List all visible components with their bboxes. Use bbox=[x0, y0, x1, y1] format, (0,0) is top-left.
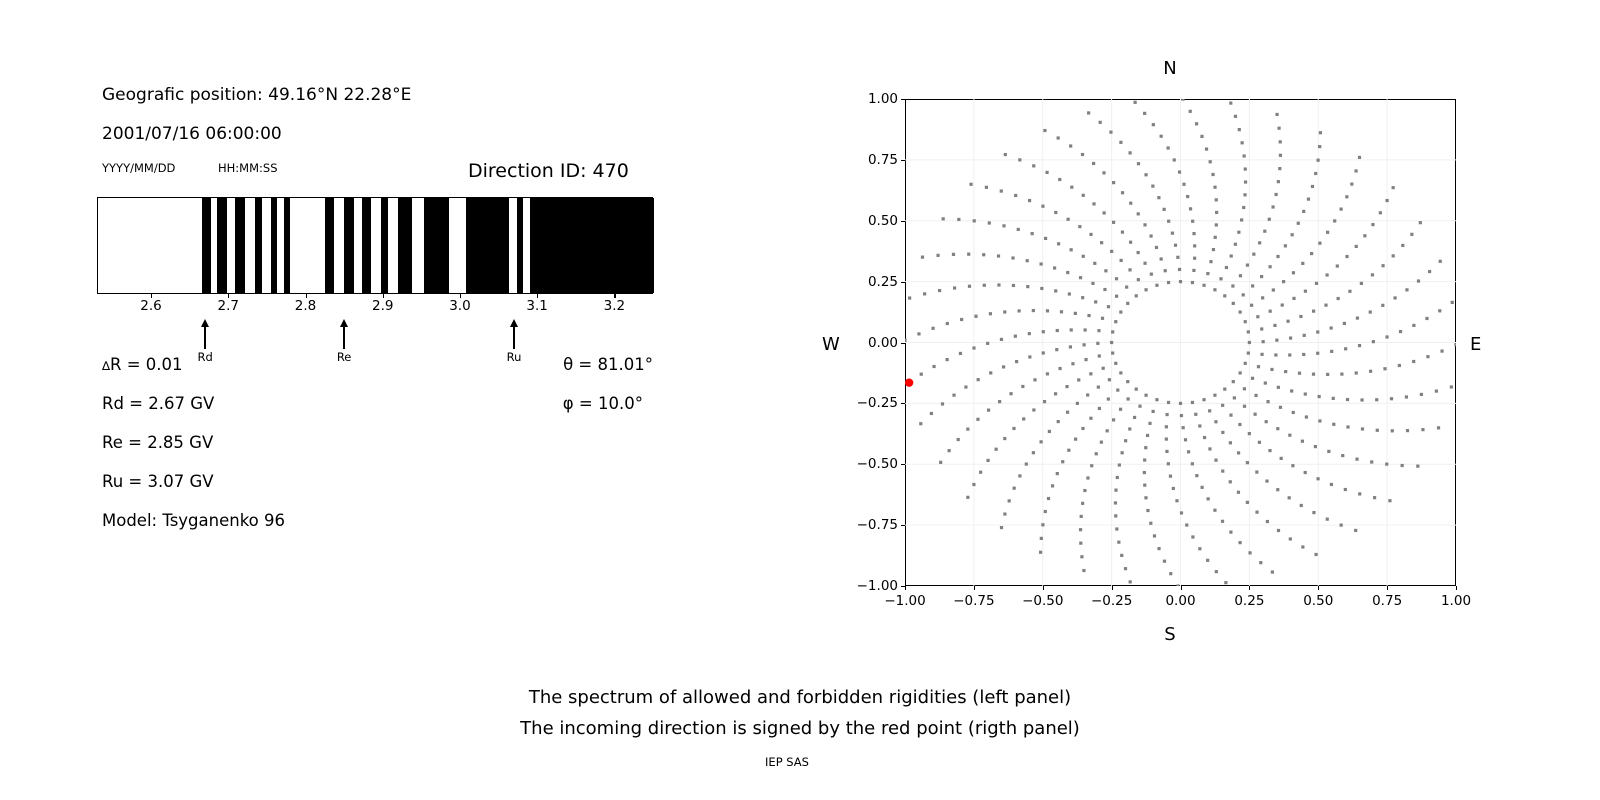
param-rd: Rd = 2.67 GV bbox=[102, 394, 214, 413]
x-axis-tick bbox=[974, 586, 975, 590]
y-axis-tick bbox=[901, 464, 905, 465]
forbidden-band bbox=[217, 198, 227, 293]
rigidity-spectrum-chart: 2.62.72.82.93.03.13.2 RdReRu bbox=[97, 197, 653, 294]
forbidden-band bbox=[398, 198, 412, 293]
y-axis-tick-label: 0.25 bbox=[868, 274, 898, 290]
forbidden-band bbox=[381, 198, 389, 293]
y-axis-tick bbox=[901, 160, 905, 161]
param-model: Model: Tsyganenko 96 bbox=[102, 511, 285, 530]
compass-label-west: W bbox=[822, 334, 840, 355]
x-axis-tick-label: 3.1 bbox=[526, 298, 547, 314]
x-axis-tick-label: 2.7 bbox=[218, 298, 239, 314]
arrow-up-icon bbox=[182, 317, 228, 349]
x-axis-tick-label: 3.0 bbox=[449, 298, 470, 314]
y-axis-tick-label: 0.50 bbox=[868, 213, 898, 229]
y-axis-tick-label: 1.00 bbox=[868, 91, 898, 107]
x-axis-tick-label: −0.50 bbox=[1022, 593, 1063, 609]
incoming-direction-point bbox=[905, 378, 913, 386]
y-axis-tick bbox=[901, 221, 905, 222]
y-axis-tick bbox=[901, 282, 905, 283]
compass-label-east: E bbox=[1470, 334, 1481, 355]
x-axis-tick bbox=[1181, 586, 1182, 590]
delta-symbol: ∆ bbox=[102, 359, 110, 373]
incoming-direction-chart: −1.00−0.75−0.50−0.250.000.250.500.751.00… bbox=[905, 99, 1456, 586]
caption-line-2: The incoming direction is signed by the … bbox=[520, 718, 1080, 739]
forbidden-band bbox=[344, 198, 353, 293]
forbidden-band bbox=[202, 198, 210, 293]
time-format-hint: HH:MM:SS bbox=[218, 161, 278, 175]
y-axis-tick-label: 0.75 bbox=[868, 152, 898, 168]
y-axis-tick bbox=[901, 99, 905, 100]
x-axis-tick bbox=[1387, 586, 1388, 590]
x-axis-tick-label: 3.2 bbox=[604, 298, 625, 314]
x-axis-tick bbox=[1043, 586, 1044, 590]
geographic-position-text: Geografic position: 49.16°N 22.28°E bbox=[102, 85, 411, 105]
x-axis-tick-label: 0.25 bbox=[1234, 593, 1264, 609]
param-ru: Ru = 3.07 GV bbox=[102, 472, 214, 491]
x-axis-tick bbox=[1318, 586, 1319, 590]
date-format-hint: YYYY/MM/DD bbox=[102, 161, 175, 175]
arrow-up-icon bbox=[321, 317, 367, 349]
arrow-up-icon bbox=[491, 317, 537, 349]
forbidden-band bbox=[284, 198, 290, 293]
marker-label: Re bbox=[321, 350, 367, 364]
x-axis-tick-label: −0.75 bbox=[953, 593, 994, 609]
x-axis-tick bbox=[1112, 586, 1113, 590]
x-axis-tick-label: 2.6 bbox=[140, 298, 161, 314]
x-axis-tick-label: 2.8 bbox=[295, 298, 316, 314]
compass-label-north: N bbox=[1163, 58, 1176, 79]
forbidden-band bbox=[255, 198, 262, 293]
rigidity-marker-rd: Rd bbox=[182, 317, 228, 364]
y-axis-tick-label: −1.00 bbox=[857, 578, 898, 594]
y-axis-tick bbox=[901, 343, 905, 344]
x-axis-tick-label: −0.25 bbox=[1091, 593, 1132, 609]
y-axis-tick-label: −0.50 bbox=[857, 456, 898, 472]
param-theta: θ = 81.01° bbox=[453, 355, 653, 374]
param-delta-r-value: R = 0.01 bbox=[110, 355, 183, 374]
forbidden-band bbox=[530, 198, 654, 293]
forbidden-band bbox=[466, 198, 508, 293]
caption-line-1: The spectrum of allowed and forbidden ri… bbox=[529, 687, 1071, 708]
x-axis-tick-label: 0.00 bbox=[1165, 593, 1195, 609]
spectrum-plot-area bbox=[97, 197, 653, 294]
forbidden-band bbox=[235, 198, 245, 293]
spectrum-x-axis: 2.62.72.82.93.03.13.2 bbox=[97, 294, 653, 308]
x-axis-tick-label: 0.75 bbox=[1372, 593, 1402, 609]
param-phi: φ = 10.0° bbox=[453, 394, 643, 413]
y-axis-tick-label: −0.25 bbox=[857, 395, 898, 411]
y-axis-tick bbox=[901, 403, 905, 404]
forbidden-band bbox=[325, 198, 334, 293]
scatter-points-layer bbox=[905, 99, 1456, 586]
forbidden-band bbox=[517, 198, 524, 293]
x-axis-tick-label: 0.50 bbox=[1303, 593, 1333, 609]
forbidden-band bbox=[424, 198, 449, 293]
compass-label-south: S bbox=[1164, 624, 1175, 645]
y-axis-tick bbox=[901, 525, 905, 526]
datetime-text: 2001/07/16 06:00:00 bbox=[102, 124, 282, 144]
x-axis-tick bbox=[1249, 586, 1250, 590]
x-axis-tick-label: 2.9 bbox=[372, 298, 393, 314]
x-axis-tick bbox=[1456, 586, 1457, 590]
y-axis-tick-label: −0.75 bbox=[857, 517, 898, 533]
rigidity-marker-re: Re bbox=[321, 317, 367, 364]
y-axis-tick-label: 0.00 bbox=[868, 335, 898, 351]
direction-id-text: Direction ID: 470 bbox=[468, 160, 629, 182]
param-re: Re = 2.85 GV bbox=[102, 433, 213, 452]
param-delta-r: ∆R = 0.01 bbox=[102, 355, 183, 374]
x-axis-tick-label: 1.00 bbox=[1441, 593, 1471, 609]
marker-label: Rd bbox=[182, 350, 228, 364]
forbidden-band bbox=[271, 198, 277, 293]
x-axis-tick bbox=[905, 586, 906, 590]
forbidden-band bbox=[362, 198, 371, 293]
footer-attribution: IEP SAS bbox=[765, 755, 809, 769]
x-axis-tick-label: −1.00 bbox=[884, 593, 925, 609]
